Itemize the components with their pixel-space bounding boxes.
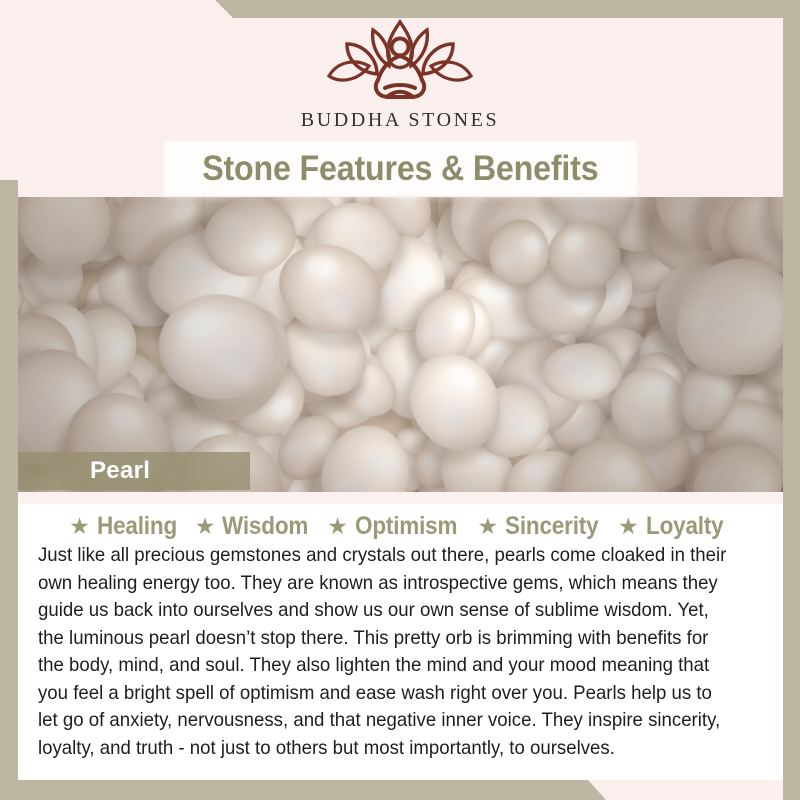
brand-logo: BUDDHA STONES xyxy=(0,18,800,132)
description-text: Just like all precious gemstones and cry… xyxy=(38,542,735,762)
star-icon: ★ xyxy=(69,515,90,538)
benefit-item: ★Loyalty xyxy=(609,512,732,541)
panel-top-tint xyxy=(18,492,783,504)
benefits-row: ★Healing★Wisdom★Optimism★Sincerity★Loyal… xyxy=(18,512,783,541)
content-panel: ★Healing★Wisdom★Optimism★Sincerity★Loyal… xyxy=(18,492,783,780)
benefit-label: Loyalty xyxy=(646,512,724,541)
info-card: BUDDHA STONES Stone Features & Benefits … xyxy=(0,0,800,800)
star-icon: ★ xyxy=(478,515,499,538)
frame-left-border xyxy=(0,180,18,800)
benefit-label: Healing xyxy=(97,512,177,541)
benefit-label: Wisdom xyxy=(222,512,308,541)
frame-bottom-border xyxy=(0,780,800,800)
page-title: Stone Features & Benefits xyxy=(202,149,598,189)
benefit-label: Optimism xyxy=(355,512,457,541)
lotus-meditation-icon xyxy=(315,18,485,106)
benefit-item: ★Optimism xyxy=(318,512,468,541)
pearl-photo-canvas xyxy=(0,197,800,492)
star-icon: ★ xyxy=(195,515,216,538)
stone-name-label: Pearl xyxy=(18,457,150,485)
frame-right-border xyxy=(783,0,800,800)
benefit-item: ★Healing xyxy=(69,512,186,541)
benefit-item: ★Wisdom xyxy=(186,512,318,541)
benefit-label: Sincerity xyxy=(505,512,598,541)
brand-name: BUDDHA STONES xyxy=(301,109,499,132)
star-icon: ★ xyxy=(327,515,348,538)
title-banner: Stone Features & Benefits xyxy=(165,142,636,195)
benefit-item: ★Sincerity xyxy=(469,512,609,541)
stone-name-bar: Pearl xyxy=(18,452,250,490)
pearl-photo xyxy=(0,197,800,492)
star-icon: ★ xyxy=(618,515,639,538)
